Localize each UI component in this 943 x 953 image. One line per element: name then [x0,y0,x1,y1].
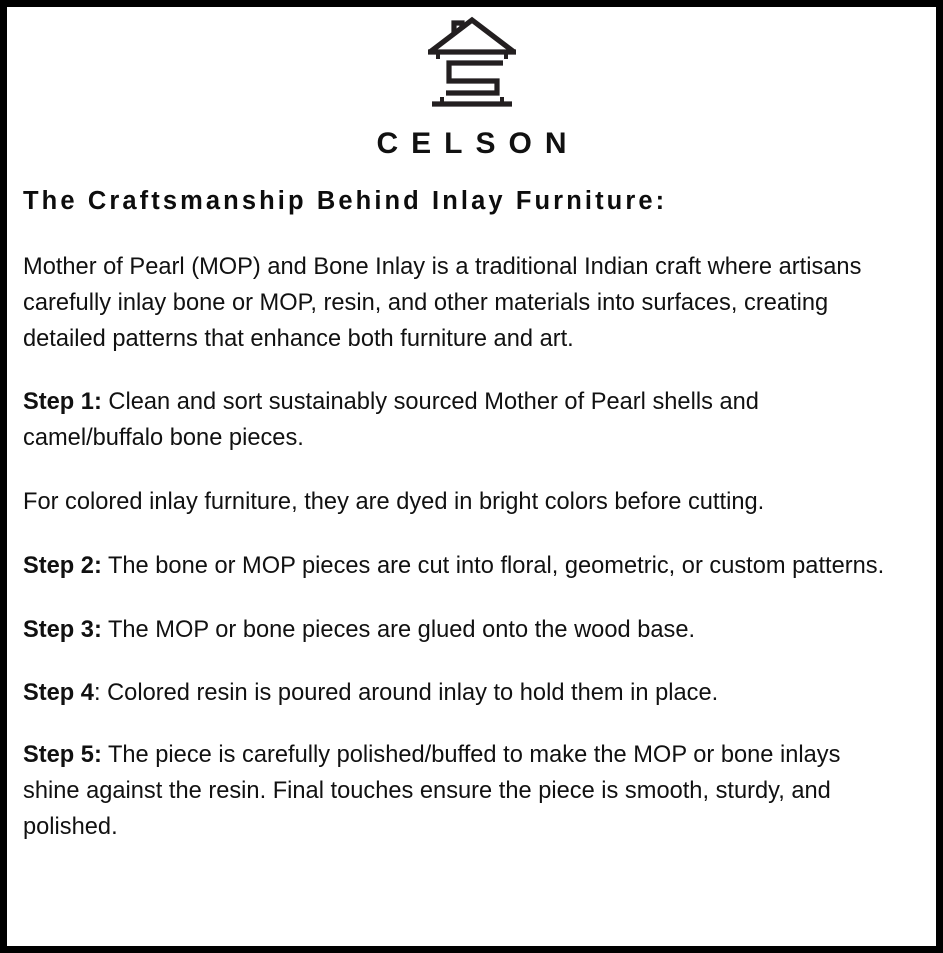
step-5-label: Step 5: [23,741,102,768]
step-5-paragraph: Step 5: The piece is carefully polished/… [23,737,889,844]
step-1-paragraph: Step 1: Clean and sort sustainably sourc… [23,384,889,456]
brand-header: CELSON [7,7,936,159]
step-3-label: Step 3: [23,616,102,643]
poster-card: CELSON The Craftsmanship Behind Inlay Fu… [0,0,943,953]
step-1-label: Step 1: [23,388,102,415]
step-1-text: Clean and sort sustainably sourced Mothe… [23,388,759,451]
step-3-text: The MOP or bone pieces are glued onto th… [102,616,695,643]
step-2-paragraph: Step 2: The bone or MOP pieces are cut i… [23,548,889,584]
step-2-text: The bone or MOP pieces are cut into flor… [102,552,884,579]
colored-inlay-note: For colored inlay furniture, they are dy… [23,484,889,520]
house-monogram-logo-icon [424,13,520,113]
page-title: The Craftsmanship Behind Inlay Furniture… [23,187,920,215]
step-2-label: Step 2: [23,552,102,579]
step-4-label: Step 4 [23,679,94,706]
intro-paragraph: Mother of Pearl (MOP) and Bone Inlay is … [23,249,889,356]
step-3-paragraph: Step 3: The MOP or bone pieces are glued… [23,612,889,648]
step-4-text: : Colored resin is poured around inlay t… [94,679,718,706]
brand-wordmark: CELSON [363,129,579,159]
step-5-text: The piece is carefully polished/buffed t… [23,741,840,840]
poster-content: The Craftsmanship Behind Inlay Furniture… [7,187,936,845]
step-4-paragraph: Step 4: Colored resin is poured around i… [23,675,889,711]
